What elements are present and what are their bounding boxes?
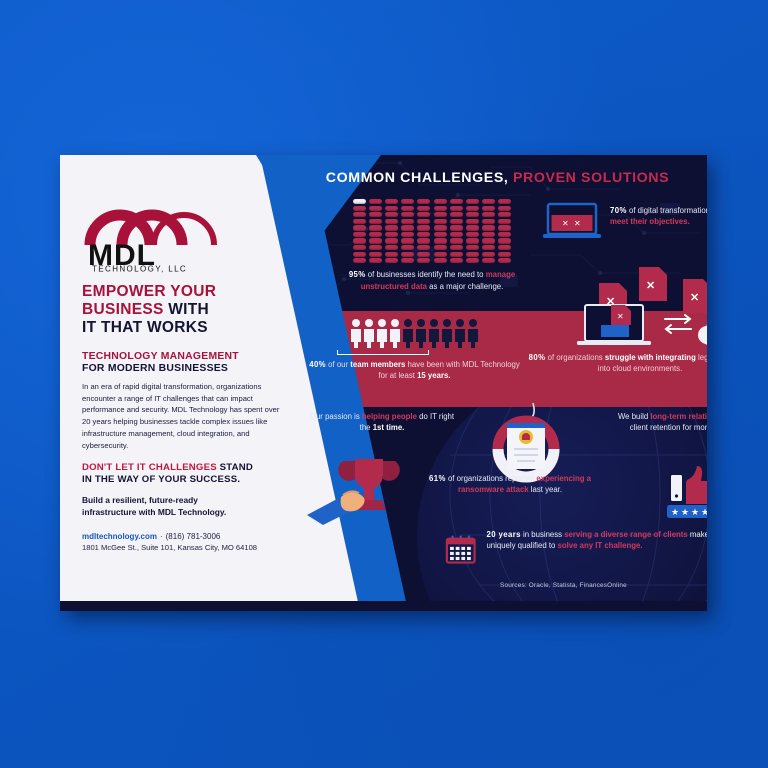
svg-text:✕: ✕ [646, 280, 655, 292]
database-stack-icon [337, 199, 527, 263]
stat-80-text: 80% of organizations struggle with integ… [525, 352, 707, 375]
stat-passion: Our passion is helping people do IT righ… [307, 411, 457, 434]
stat-61-percent: 61% of organizations reported experienci… [405, 473, 615, 496]
contact-block: mdltechnology.com·(816) 781-3006 1801 Mc… [82, 532, 282, 552]
build-statement: Build a resilient, future-ready infrastr… [82, 495, 282, 519]
headline-line-3: IT THAT WORKS [82, 319, 282, 337]
people-brace-decoration [337, 350, 429, 355]
stat-20-text: 20 years in business serving a diverse r… [486, 527, 707, 552]
laptop-cloud-transfer-icon: ✕ [573, 303, 707, 355]
infographic-flyer: MDL TECHNOLOGY, LLC EMPOWER YOUR BUSINES… [60, 155, 707, 611]
sources-note: Sources: Oracle, Statista, FinancesOnlin… [500, 582, 627, 589]
left-content-column: MDL TECHNOLOGY, LLC EMPOWER YOUR BUSINES… [82, 189, 282, 552]
stat-passion-text: Our passion is helping people do IT righ… [307, 411, 457, 434]
title-part-red: PROVEN SOLUTIONS [513, 170, 669, 186]
subheading-dark: FOR MODERN BUSINESSES [82, 363, 282, 375]
people-row-icon [307, 318, 522, 348]
stat-20-years: 20 years in business serving a diverse r… [445, 527, 707, 573]
stat-40-percent: 40% of our team members have been with M… [307, 318, 522, 382]
headline-line-1: EMPOWER YOUR [82, 283, 282, 301]
svg-text:TECHNOLOGY, LLC: TECHNOLOGY, LLC [92, 265, 187, 274]
body-paragraph: In an era of rapid digital transformatio… [82, 381, 282, 452]
svg-text:★: ★ [691, 507, 699, 517]
headline-line-2: BUSINESS WITH [82, 301, 282, 319]
stat-80-percent: 80% of organizations struggle with integ… [525, 352, 707, 375]
thumbs-up-stars-icon: ★★★★★ [653, 463, 707, 525]
cta-line-1: DON'T LET IT CHALLENGES STAND [82, 462, 282, 474]
street-address: 1801 McGee St., Suite 101, Kansas City, … [82, 543, 282, 552]
stat-95-text: 95% of businesses identify the need to m… [337, 269, 527, 292]
svg-text:✕: ✕ [617, 312, 624, 321]
svg-text:✕: ✕ [574, 219, 581, 228]
stat-99-percent: We build long-term relationships with 99… [615, 411, 707, 434]
phone-number[interactable]: (816) 781-3006 [166, 532, 221, 541]
mdl-arches-logo: MDL TECHNOLOGY, LLC [82, 189, 282, 273]
title-part-white: COMMON CHALLENGES, [326, 170, 509, 186]
svg-text:★: ★ [671, 507, 679, 517]
website-link[interactable]: mdltechnology.com [82, 532, 157, 541]
stat-61-text: 61% of organizations reported experienci… [405, 473, 615, 496]
cta-line-2: IN THE WAY OF YOUR SUCCESS. [82, 474, 282, 486]
subheading-red: TECHNOLOGY MANAGEMENT [82, 351, 282, 363]
stat-99-text: We build long-term relationships with 99… [615, 411, 707, 434]
laptop-error-icon: ✕ ✕ [543, 202, 601, 242]
svg-text:✕: ✕ [562, 219, 569, 228]
svg-text:★: ★ [701, 507, 707, 517]
stat-70-text: 70% of digital transformation initiative… [610, 202, 707, 228]
right-content-column: COMMON CHALLENGES, PROVEN SOLUTIONS 95% … [285, 155, 707, 611]
stat-95-percent: 95% of businesses identify the need to m… [337, 199, 527, 292]
contact-separator: · [160, 532, 163, 541]
stat-40-text: 40% of our team members have been with M… [307, 359, 522, 382]
calendar-icon [445, 527, 476, 573]
page-title: COMMON CHALLENGES, PROVEN SOLUTIONS [295, 170, 700, 186]
page-headline: EMPOWER YOUR BUSINESS WITH IT THAT WORKS [82, 283, 282, 337]
svg-text:★: ★ [681, 507, 689, 517]
stat-70-percent: ✕ ✕ 70% of digital transformation initia… [543, 202, 707, 242]
